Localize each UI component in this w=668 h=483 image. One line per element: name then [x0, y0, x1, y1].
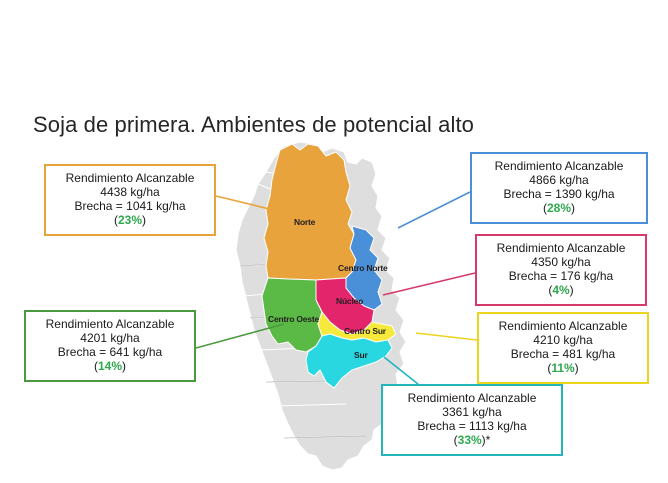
callout-percent-value: 4%: [552, 283, 569, 297]
callout-heading: Rendimiento Alcanzable: [483, 241, 639, 255]
callout-percent-value: 33%: [458, 433, 482, 447]
callout-percent-value: 28%: [547, 201, 571, 215]
callout-norte[interactable]: Rendimiento Alcanzable 4438 kg/ha Brecha…: [44, 164, 216, 236]
callout-gap-value: Brecha = 641 kg/ha: [32, 345, 188, 359]
callout-yield-value: 4438 kg/ha: [52, 185, 208, 199]
callout-gap-value: Brecha = 1041 kg/ha: [52, 199, 208, 213]
callout-gap-value: Brecha = 1113 kg/ha: [389, 419, 555, 433]
callout-yield-value: 4866 kg/ha: [478, 173, 640, 187]
callout-gap-value: Brecha = 1390 kg/ha: [478, 187, 640, 201]
callout-percent-line: (14%): [32, 359, 188, 373]
slide-canvas: Soja de primera. Ambientes de potencial …: [0, 0, 668, 483]
callout-asterisk: *: [486, 433, 491, 447]
callout-percent-line: (11%): [485, 361, 641, 375]
callout-percent-line: (33%)*: [389, 433, 555, 447]
callout-yield-value: 4201 kg/ha: [32, 331, 188, 345]
callout-percent-line: (23%): [52, 213, 208, 227]
callout-heading: Rendimiento Alcanzable: [478, 159, 640, 173]
callout-sur[interactable]: Rendimiento Alcanzable 3361 kg/ha Brecha…: [381, 384, 563, 456]
callout-percent-line: (28%): [478, 201, 640, 215]
callout-centro-sur[interactable]: Rendimiento Alcanzable 4210 kg/ha Brecha…: [477, 312, 649, 384]
callout-heading: Rendimiento Alcanzable: [389, 391, 555, 405]
callout-centro-norte[interactable]: Rendimiento Alcanzable 4866 kg/ha Brecha…: [470, 152, 648, 224]
callout-heading: Rendimiento Alcanzable: [485, 319, 641, 333]
region-norte: [264, 144, 356, 280]
callout-percent-value: 23%: [118, 213, 142, 227]
callout-gap-value: Brecha = 176 kg/ha: [483, 269, 639, 283]
callout-percent-value: 11%: [551, 361, 574, 375]
callout-heading: Rendimiento Alcanzable: [32, 317, 188, 331]
callout-heading: Rendimiento Alcanzable: [52, 171, 208, 185]
callout-percent-line: (4%): [483, 283, 639, 297]
callout-nucleo[interactable]: Rendimiento Alcanzable 4350 kg/ha Brecha…: [475, 234, 647, 306]
page-title: Soja de primera. Ambientes de potencial …: [33, 112, 474, 138]
callout-yield-value: 4210 kg/ha: [485, 333, 641, 347]
callout-percent-value: 14%: [98, 359, 122, 373]
callout-gap-value: Brecha = 481 kg/ha: [485, 347, 641, 361]
callout-centro-oeste[interactable]: Rendimiento Alcanzable 4201 kg/ha Brecha…: [24, 310, 196, 382]
callout-yield-value: 3361 kg/ha: [389, 405, 555, 419]
callout-yield-value: 4350 kg/ha: [483, 255, 639, 269]
